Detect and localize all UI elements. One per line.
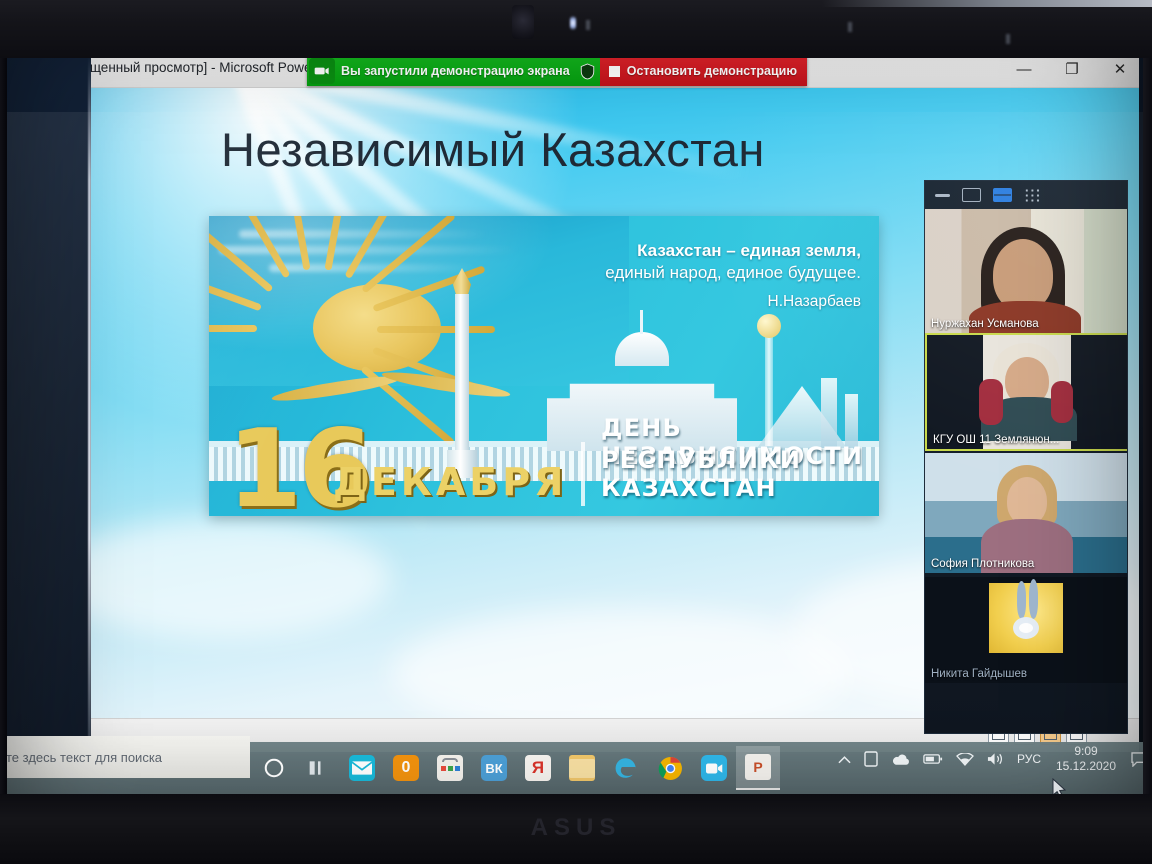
yandex-browser-icon[interactable]: Я	[516, 746, 560, 790]
quote-line-1: Казахстан – единая земля,	[531, 240, 861, 262]
poster-headline-2: РЕСПУБЛИКИ КАЗАХСТАН	[601, 446, 879, 502]
odnoklassniki-icon[interactable]: 0	[384, 746, 428, 790]
onedrive-icon[interactable]	[891, 753, 910, 766]
monument	[447, 254, 477, 479]
participant-name: Нуржахан Усманова	[925, 317, 1045, 331]
participant-name: Никита Гайдышев	[925, 667, 1033, 681]
participant-name: София Плотникова	[925, 557, 1040, 571]
laptop-bezel-bottom: ASUS	[0, 794, 1152, 864]
window-controls[interactable]: — ❐ ✕	[1011, 56, 1133, 84]
quote-line-2: единый народ, единое будущее.	[531, 262, 861, 284]
clock-date: 15.12.2020	[1054, 759, 1118, 774]
camera-led	[570, 16, 576, 30]
poster-divider	[581, 442, 585, 506]
show-hidden-icons-chevron[interactable]	[838, 755, 851, 764]
powerpoint-icon[interactable]: P	[736, 746, 780, 790]
volume-icon[interactable]	[987, 752, 1004, 766]
system-tray[interactable]: РУС 9:09 15.12.2020	[838, 744, 1148, 774]
avatar	[989, 583, 1063, 653]
minimize-button[interactable]: —	[1011, 56, 1037, 84]
laptop-bezel-right	[1143, 58, 1152, 798]
slide-title: Независимый Казахстан	[221, 122, 981, 177]
quote-author: Н.Назарбаев	[531, 293, 861, 311]
chrome-icon[interactable]	[648, 746, 692, 790]
zoom-icon[interactable]	[692, 746, 736, 790]
clock-time: 9:09	[1054, 744, 1118, 759]
independence-day-poster: Казахстан – единая земля, единый народ, …	[209, 216, 879, 516]
participant-tile[interactable]: Никита Гайдышев	[925, 577, 1128, 683]
close-button[interactable]: ✕	[1107, 56, 1133, 84]
edge-icon[interactable]	[604, 746, 648, 790]
minimize-icon[interactable]	[935, 194, 950, 197]
taskbar-icons[interactable]: 0 ВК Я	[252, 746, 780, 790]
vk-icon[interactable]: ВК	[472, 746, 516, 790]
language-indicator[interactable]: РУС	[1017, 752, 1041, 766]
laptop-bezel-top	[0, 0, 1152, 58]
shield-icon	[576, 63, 600, 80]
search-input[interactable]: те здесь текст для поиска	[0, 736, 250, 778]
clock[interactable]: 9:09 15.12.2020	[1054, 744, 1118, 774]
laptop-photo: захстан [Защищенный просмотр] - Microsof…	[0, 0, 1152, 864]
share-status-text: Вы запустили демонстрацию экрана	[335, 64, 576, 78]
participant-tile[interactable]: София Плотникова	[925, 453, 1128, 573]
split-view-icon[interactable]	[993, 188, 1012, 202]
battery-icon[interactable]	[923, 753, 943, 765]
mail-icon[interactable]	[340, 746, 384, 790]
task-view-icon[interactable]	[296, 746, 340, 790]
slide-quote: Казахстан – единая земля, единый народ, …	[531, 240, 861, 311]
grid-icon[interactable]	[1024, 188, 1041, 203]
webcam	[512, 5, 534, 39]
laptop-screen: захстан [Защищенный просмотр] - Microsof…	[0, 56, 1152, 798]
search-placeholder: те здесь текст для поиска	[0, 750, 162, 765]
tablet-mode-icon[interactable]	[864, 751, 878, 767]
microsoft-store-icon[interactable]	[428, 746, 472, 790]
participant-tile[interactable]: КГУ ОШ 11 Землянюн...	[925, 333, 1128, 451]
zoom-layout-toolbar[interactable]	[925, 181, 1128, 209]
zoom-video-panel[interactable]: Нуржахан Усманова КГУ ОШ 11 Землянюн...	[924, 180, 1128, 734]
participant-tile[interactable]: Нуржахан Усманова	[925, 209, 1128, 333]
screen-share-bar[interactable]: Вы запустили демонстрацию экрана Останов…	[307, 56, 807, 86]
cortana-icon[interactable]	[252, 746, 296, 790]
stop-share-label: Остановить демонстрацию	[627, 64, 797, 78]
restore-button[interactable]: ❐	[1059, 56, 1085, 84]
stop-share-button[interactable]: Остановить демонстрацию	[600, 56, 807, 86]
stop-square-icon	[609, 66, 620, 77]
file-explorer-icon[interactable]	[560, 746, 604, 790]
participant-name: КГУ ОШ 11 Землянюн...	[927, 433, 1065, 447]
wifi-icon[interactable]	[956, 753, 974, 766]
brand-logo: ASUS	[0, 814, 1152, 842]
zoom-icon	[309, 58, 335, 84]
windows-taskbar[interactable]: те здесь текст для поиска 0	[0, 742, 1152, 798]
laptop-bezel-left	[0, 58, 7, 798]
poster-month: ДЕКАБРЯ	[333, 460, 567, 504]
single-rectangle-icon[interactable]	[962, 188, 981, 202]
